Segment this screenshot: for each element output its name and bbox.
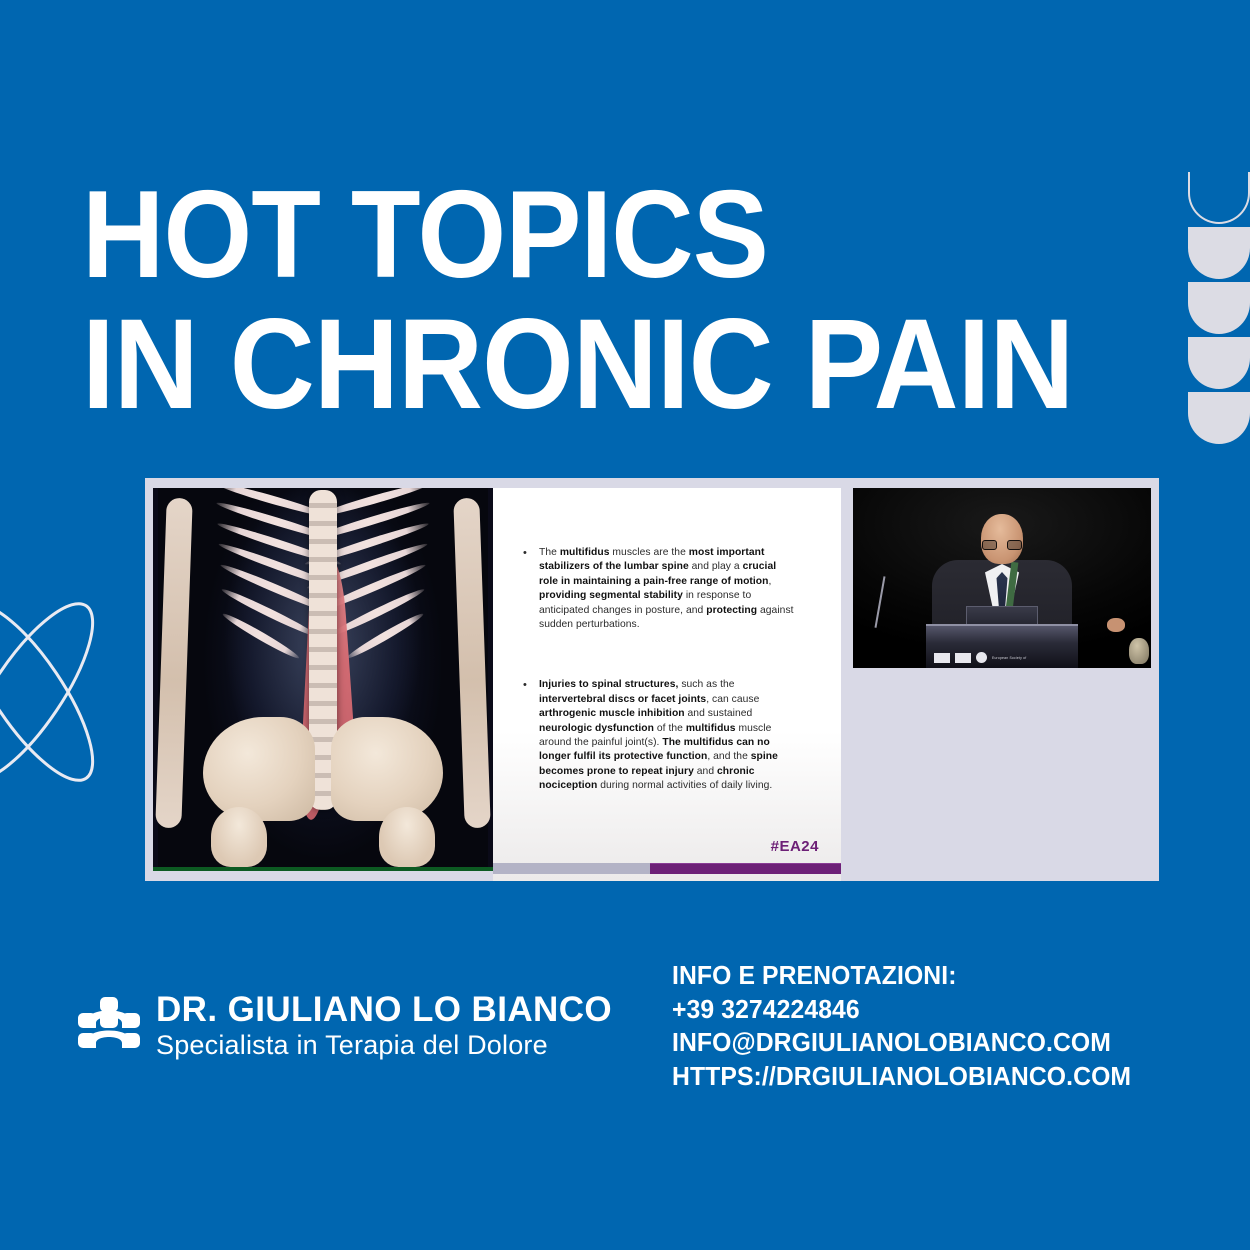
podium: European Society of [926, 624, 1078, 668]
decorative-crossing-ellipses [0, 585, 118, 800]
glasses-icon [982, 540, 1022, 550]
arc-filled-3 [1188, 337, 1250, 389]
arc-filled-4 [1188, 392, 1250, 444]
page-title: HOT TOPICS IN CHRONIC PAIN [82, 178, 1192, 424]
speaker-head [981, 514, 1023, 564]
brand-lockup: DR. GIULIANO LO BIANCO Specialista in Te… [78, 992, 612, 1060]
arc-filled-1 [1188, 227, 1250, 279]
speaker-video[interactable]: European Society of [853, 488, 1151, 668]
brand-subtitle: Specialista in Terapia del Dolore [156, 1030, 612, 1060]
speaker-hand [1107, 618, 1125, 632]
bullet-marker: • [523, 678, 539, 793]
slide-progress-bar[interactable] [493, 863, 841, 874]
contact-block: INFO E PRENOTAZIONI: +39 3274224846 INFO… [672, 960, 1145, 1095]
slide-text-panel: • The multifidus muscles are the most im… [493, 488, 841, 881]
podium-logo-text: European Society of [992, 656, 1026, 660]
contact-website[interactable]: HTTPS://DRGIULIANOLOBIANCO.COM [672, 1061, 1131, 1095]
presentation-slide-card: • The multifidus muscles are the most im… [145, 478, 1159, 881]
audience-head [1129, 638, 1149, 664]
anatomy-image [153, 488, 493, 871]
arc-filled-2 [1188, 282, 1250, 334]
title-line-1: HOT TOPICS [82, 178, 1103, 292]
lo-bianco-spine-mark-icon [78, 997, 140, 1055]
contact-email[interactable]: INFO@DRGIULIANOLOBIANCO.COM [672, 1027, 1131, 1061]
pelvis [203, 717, 443, 867]
podium-logo-3 [976, 652, 987, 663]
slide-bullet-1: • The multifidus muscles are the most im… [523, 546, 795, 632]
podium-logo-2 [955, 653, 971, 663]
slide-progress-fill [650, 863, 841, 874]
speaker-video-panel: European Society of [841, 488, 1151, 871]
green-strip [153, 867, 493, 871]
decorative-arcs-top-right [1188, 172, 1250, 404]
contact-phone[interactable]: +39 3274224846 [672, 994, 1131, 1028]
bullet-text: Injuries to spinal structures, such as t… [539, 678, 795, 793]
arc-outline [1188, 172, 1250, 224]
bullet-text: The multifidus muscles are the most impo… [539, 546, 795, 632]
bullet-marker: • [523, 546, 539, 632]
title-line-2: IN CHRONIC PAIN [82, 306, 1103, 424]
slide-bullet-2: • Injuries to spinal structures, such as… [523, 678, 795, 793]
brand-name: DR. GIULIANO LO BIANCO [156, 992, 612, 1028]
contact-heading: INFO E PRENOTAZIONI: [672, 960, 1131, 994]
podium-logo-1 [934, 653, 950, 663]
event-hashtag: #EA24 [771, 838, 819, 855]
